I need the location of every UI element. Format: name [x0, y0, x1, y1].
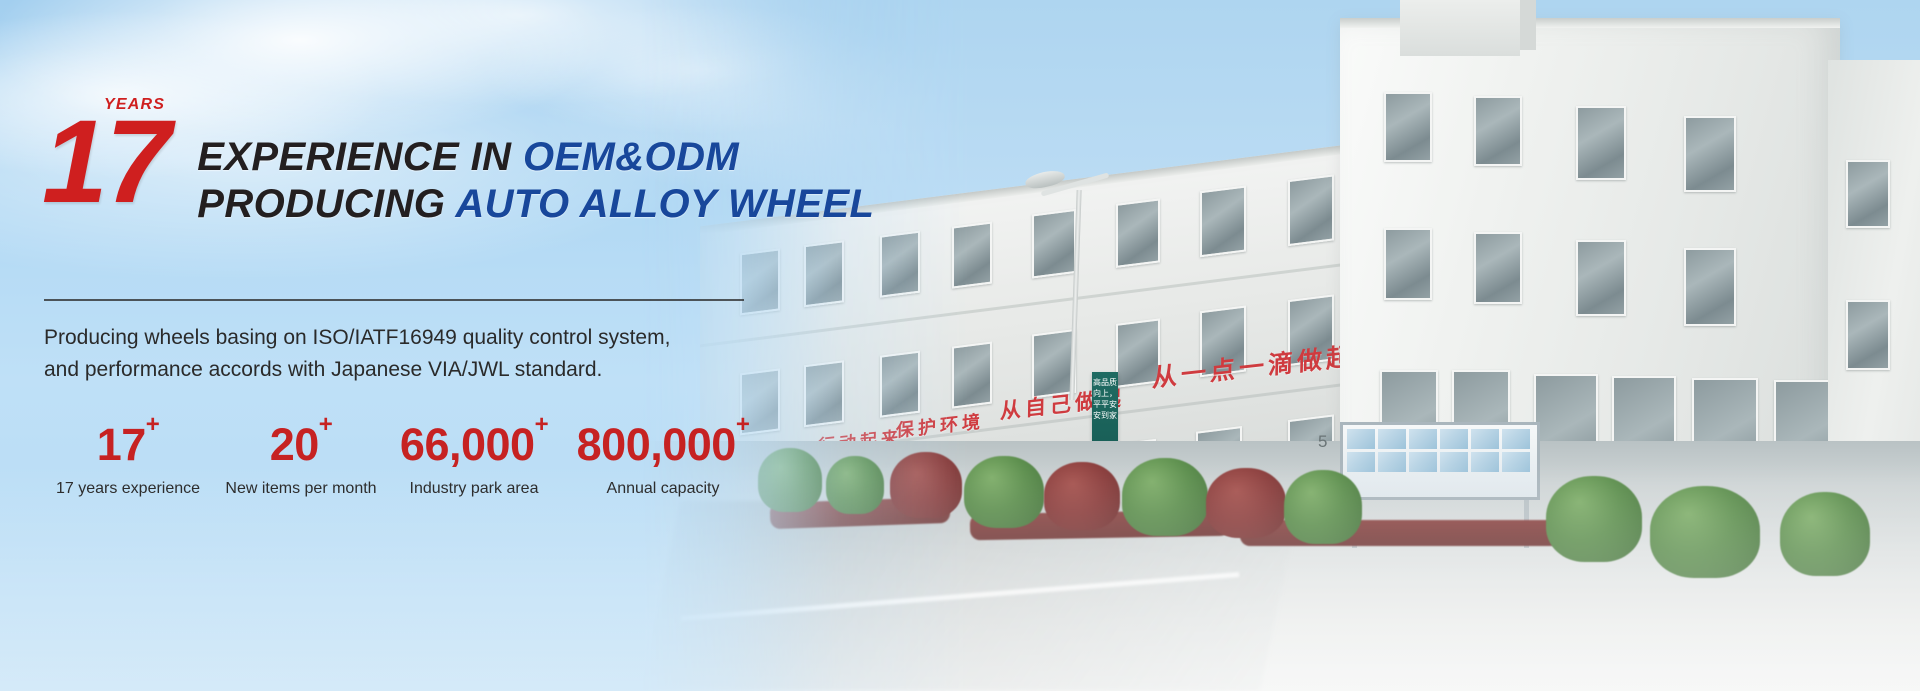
- years-label: YEARS: [104, 96, 165, 114]
- stat-label: 17 years experience: [44, 480, 212, 498]
- red-shrub: [1206, 468, 1286, 538]
- stat-value: 17+: [44, 422, 212, 467]
- headline-line-2: PRODUCING AUTO ALLOY WHEEL: [197, 181, 874, 228]
- notice-poster: [1440, 452, 1468, 472]
- notice-poster: [1440, 429, 1468, 449]
- banner-content: YEARS 17 EXPERIENCE IN OEM&ODM PRODUCING…: [0, 0, 820, 691]
- years-block: YEARS 17: [42, 108, 169, 217]
- stat-suffix: +: [146, 411, 160, 438]
- stat-suffix: +: [736, 411, 750, 438]
- headline-row: YEARS 17 EXPERIENCE IN OEM&ODM PRODUCING…: [42, 108, 874, 228]
- stat-value: 20+: [212, 422, 390, 467]
- headline-line-2-dark: PRODUCING: [197, 182, 455, 226]
- stat-number: 17: [97, 419, 146, 470]
- shrub: [1546, 476, 1642, 562]
- stat-value: 800,000+: [558, 422, 768, 467]
- window: [880, 231, 920, 298]
- door-number-label: 5: [1318, 432, 1327, 452]
- stat-number: 20: [270, 419, 319, 470]
- window: [1576, 240, 1626, 316]
- stat-item: 66,000+ Industry park area: [390, 422, 558, 498]
- window: [1384, 92, 1432, 162]
- stat-item: 20+ New items per month: [212, 422, 390, 498]
- wall-slogan-text: 保护环境: [896, 413, 984, 441]
- stat-suffix: +: [535, 411, 549, 438]
- window: [1846, 160, 1890, 228]
- years-number: 17: [42, 108, 169, 217]
- headline: EXPERIENCE IN OEM&ODM PRODUCING AUTO ALL…: [197, 108, 874, 228]
- headline-line-1-dark: EXPERIENCE IN: [197, 135, 523, 179]
- stat-label: New items per month: [212, 480, 390, 498]
- window: [952, 342, 992, 409]
- divider-line: [44, 299, 744, 301]
- stat-value: 66,000+: [390, 422, 558, 467]
- red-shrub: [890, 452, 962, 518]
- rooftop-chimney: [1520, 0, 1536, 50]
- headline-line-2-blue: AUTO ALLOY WHEEL: [455, 182, 874, 226]
- stat-label: Industry park area: [390, 480, 558, 498]
- shrub: [964, 456, 1044, 528]
- window: [1576, 106, 1626, 180]
- factory-photo: 行动起来 保护环境 从自己做起 从一点一滴做起: [640, 0, 1920, 691]
- shrub: [826, 456, 884, 514]
- rooftop-penthouse: [1400, 0, 1520, 56]
- wall-slogan-text: 从一点一滴做起: [1152, 343, 1355, 390]
- promo-banner: 行动起来 保护环境 从自己做起 从一点一滴做起: [0, 0, 1920, 691]
- notice-poster: [1409, 452, 1437, 472]
- notice-board: [1340, 422, 1540, 500]
- window: [1116, 198, 1160, 268]
- window: [1474, 96, 1522, 166]
- window: [1474, 232, 1522, 304]
- stat-number: 800,000: [577, 419, 736, 470]
- notice-poster: [1378, 429, 1406, 449]
- notice-poster: [1502, 429, 1530, 449]
- window: [1200, 185, 1246, 257]
- window: [1288, 174, 1334, 246]
- window: [1384, 228, 1432, 300]
- shrub: [1650, 486, 1760, 578]
- shrub: [1284, 470, 1362, 544]
- window: [1846, 300, 1890, 370]
- shrub: [1780, 492, 1870, 576]
- notice-poster: [1378, 452, 1406, 472]
- window: [1684, 116, 1736, 192]
- stat-number: 66,000: [400, 419, 535, 470]
- notice-poster: [1347, 429, 1375, 449]
- notice-poster: [1502, 452, 1530, 472]
- description-line-2: and performance accords with Japanese VI…: [44, 354, 744, 386]
- window: [1684, 248, 1736, 326]
- window: [1032, 209, 1076, 279]
- stats-row: 17+ 17 years experience 20+ New items pe…: [44, 422, 768, 498]
- green-banner-text: 高品质向上，平平安安到家: [1092, 372, 1118, 421]
- stat-item: 800,000+ Annual capacity: [558, 422, 768, 498]
- description-text: Producing wheels basing on ISO/IATF16949…: [44, 322, 744, 386]
- stat-suffix: +: [319, 411, 333, 438]
- stat-label: Annual capacity: [558, 480, 768, 498]
- window: [880, 351, 920, 418]
- headline-line-1: EXPERIENCE IN OEM&ODM: [197, 134, 874, 181]
- notice-poster: [1347, 452, 1375, 472]
- red-shrub: [1044, 462, 1120, 530]
- shrub: [1122, 458, 1208, 536]
- headline-line-1-blue: OEM&ODM: [523, 135, 739, 179]
- notice-poster: [1471, 452, 1499, 472]
- notice-poster: [1471, 429, 1499, 449]
- stat-item: 17+ 17 years experience: [44, 422, 212, 498]
- description-line-1: Producing wheels basing on ISO/IATF16949…: [44, 322, 744, 354]
- notice-poster: [1409, 429, 1437, 449]
- window: [952, 222, 992, 289]
